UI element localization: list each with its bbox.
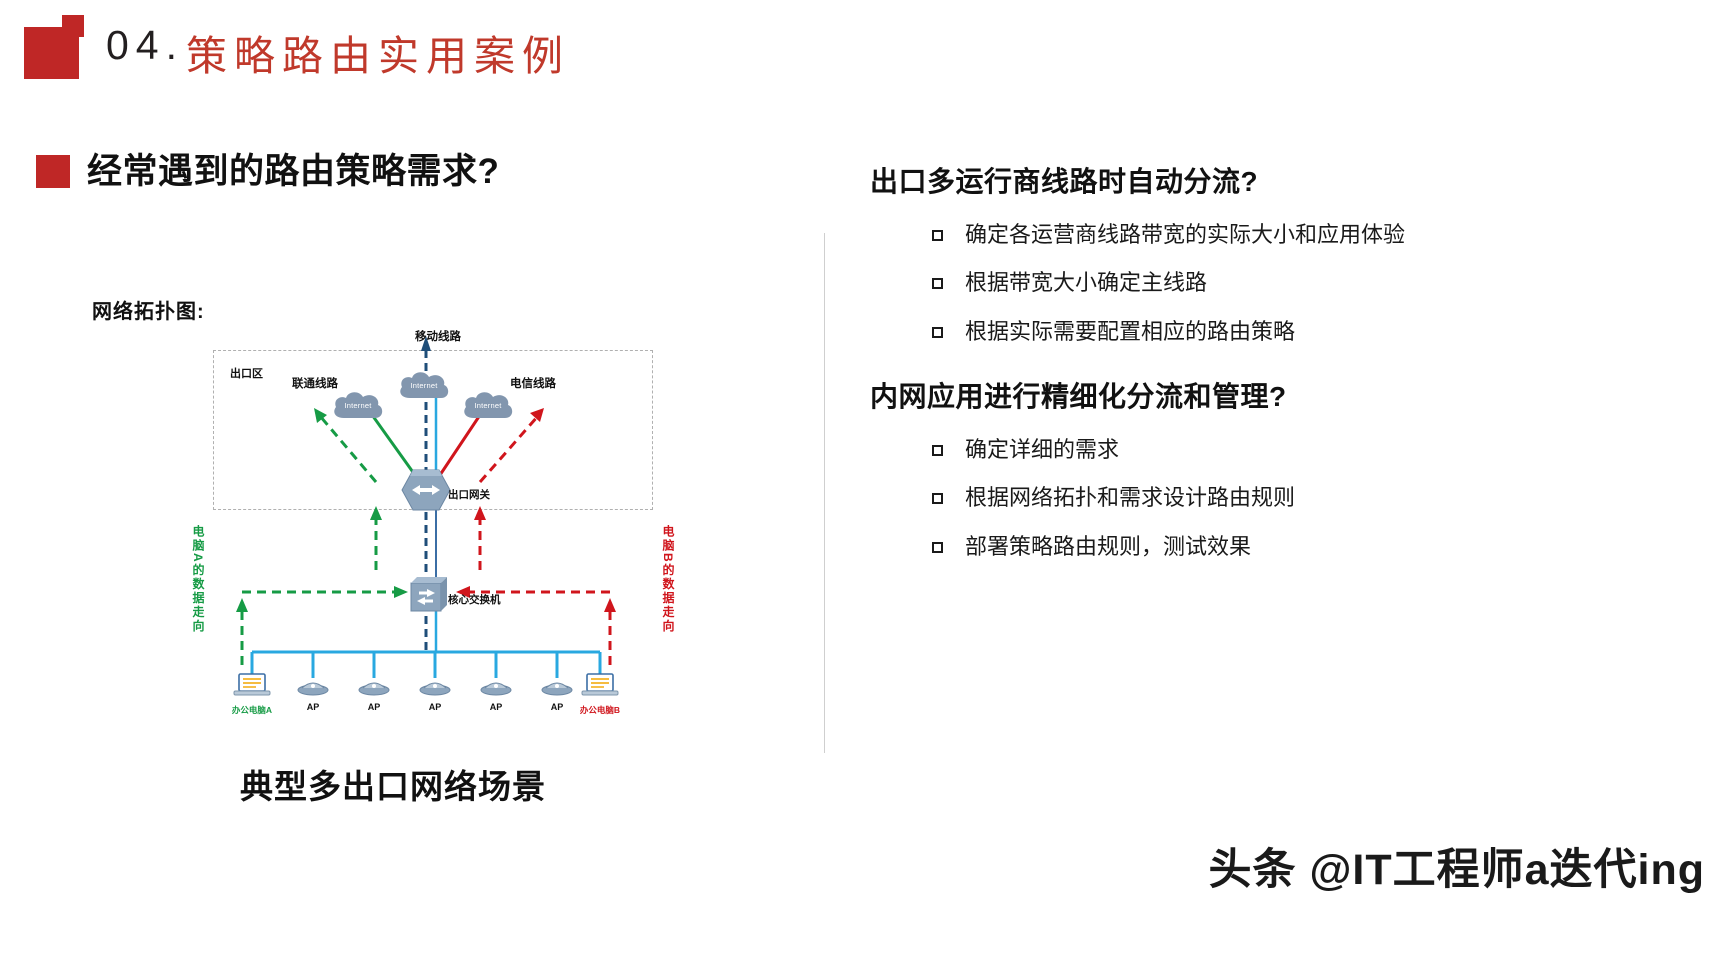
checkbox-bullet-icon xyxy=(932,278,943,289)
flow-label-computer-b: 电脑B的数据走向 xyxy=(660,525,677,634)
core-switch-icon xyxy=(407,575,447,613)
list-item-label: 根据实际需要配置相应的路由策略 xyxy=(965,319,1295,345)
device-label: AP xyxy=(296,702,330,712)
left-heading-text: 经常遇到的路由策略需求? xyxy=(87,154,499,189)
device-laptop-a: 办公电脑A xyxy=(232,672,272,703)
device-label: AP xyxy=(479,702,513,712)
right-section-2: 内网应用进行精细化分流和管理? 确定详细的需求 根据网络拓扑和需求设计路由规则 … xyxy=(870,375,1630,560)
list-item: 部署策略路由规则，测试效果 xyxy=(870,534,1630,560)
network-topology-diagram: 出口区 xyxy=(180,320,690,720)
right-section-2-heading: 内网应用进行精细化分流和管理? xyxy=(870,375,1630,415)
exit-gateway-label: 出口网关 xyxy=(448,487,490,502)
device-label: AP xyxy=(418,702,452,712)
list-item-label: 确定详细的需求 xyxy=(965,437,1119,463)
header-section-number: 04. xyxy=(106,22,184,69)
mobile-line-label: 移动线路 xyxy=(415,328,461,344)
checkbox-bullet-icon xyxy=(932,542,943,553)
list-item: 根据带宽大小确定主线路 xyxy=(870,270,1630,296)
list-item: 根据网络拓扑和需求设计路由规则 xyxy=(870,485,1630,511)
core-switch-label: 核心交换机 xyxy=(448,592,501,607)
device-ap-2: AP xyxy=(357,674,391,701)
device-ap-3: AP xyxy=(418,674,452,701)
right-section-1-heading: 出口多运行商线路时自动分流? xyxy=(870,160,1630,200)
left-column: 经常遇到的路由策略需求? 网络拓扑图: 出口区 xyxy=(0,120,910,975)
diagram-caption: 典型多出口网络场景 xyxy=(240,760,546,808)
telecom-line-label: 电信线路 xyxy=(510,375,556,391)
checkbox-bullet-icon xyxy=(932,445,943,456)
list-item-label: 确定各运营商线路带宽的实际大小和应用体验 xyxy=(965,222,1405,248)
cloud-label: Internet xyxy=(396,381,452,390)
cloud-label: Internet xyxy=(330,401,386,410)
list-item-label: 根据带宽大小确定主线路 xyxy=(965,270,1207,296)
slide-header: 04. 策略路由实用案例 xyxy=(0,0,1733,115)
right-section-1-bullets: 确定各运营商线路带宽的实际大小和应用体验 根据带宽大小确定主线路 根据实际需要配… xyxy=(870,222,1630,345)
device-ap-5: AP xyxy=(540,674,574,701)
header-accent-square-small xyxy=(62,15,84,37)
list-item: 根据实际需要配置相应的路由策略 xyxy=(870,319,1630,345)
device-ap-1: AP xyxy=(296,674,330,701)
heading-bullet-square xyxy=(36,155,70,188)
list-item: 确定详细的需求 xyxy=(870,437,1630,463)
checkbox-bullet-icon xyxy=(932,493,943,504)
unicom-line-label: 联通线路 xyxy=(292,375,338,391)
column-divider xyxy=(824,233,825,753)
page-title: 策略路由实用案例 xyxy=(186,22,570,82)
exit-gateway-icon xyxy=(400,468,452,512)
list-item-label: 部署策略路由规则，测试效果 xyxy=(965,534,1251,560)
internet-cloud-icon: Internet xyxy=(396,368,452,402)
right-section-1: 出口多运行商线路时自动分流? 确定各运营商线路带宽的实际大小和应用体验 根据带宽… xyxy=(870,160,1630,345)
device-label: 办公电脑B xyxy=(565,704,635,716)
cloud-label: Internet xyxy=(460,401,516,410)
list-item: 确定各运营商线路带宽的实际大小和应用体验 xyxy=(870,222,1630,248)
watermark: 头条 @IT工程师a迭代ing xyxy=(1209,835,1705,897)
checkbox-bullet-icon xyxy=(932,327,943,338)
checkbox-bullet-icon xyxy=(932,230,943,241)
device-ap-4: AP xyxy=(479,674,513,701)
list-item-label: 根据网络拓扑和需求设计路由规则 xyxy=(965,485,1295,511)
right-section-2-bullets: 确定详细的需求 根据网络拓扑和需求设计路由规则 部署策略路由规则，测试效果 xyxy=(870,437,1630,560)
internet-cloud-icon: Internet xyxy=(330,388,386,422)
device-label: AP xyxy=(357,702,391,712)
left-heading: 经常遇到的路由策略需求? xyxy=(36,154,499,189)
device-laptop-b: 办公电脑B xyxy=(580,672,620,703)
flow-label-computer-a: 电脑A的数据走向 xyxy=(190,525,207,634)
device-label: 办公电脑A xyxy=(217,704,287,716)
internet-cloud-icon: Internet xyxy=(460,388,516,422)
